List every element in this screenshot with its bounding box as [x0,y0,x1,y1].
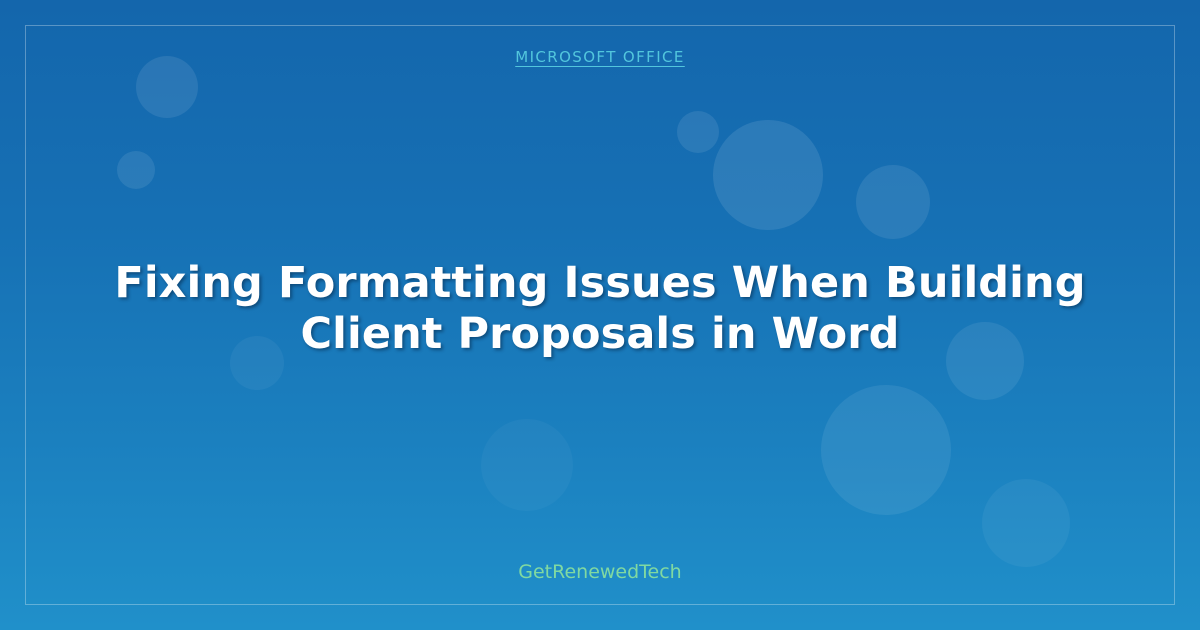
social-share-card: MICROSOFT OFFICE Fixing Formatting Issue… [0,0,1200,630]
card-content: MICROSOFT OFFICE Fixing Formatting Issue… [0,0,1200,630]
page-title: Fixing Formatting Issues When Building C… [95,258,1105,359]
title-container: Fixing Formatting Issues When Building C… [70,56,1130,561]
site-brand-footer: GetRenewedTech [518,561,681,590]
